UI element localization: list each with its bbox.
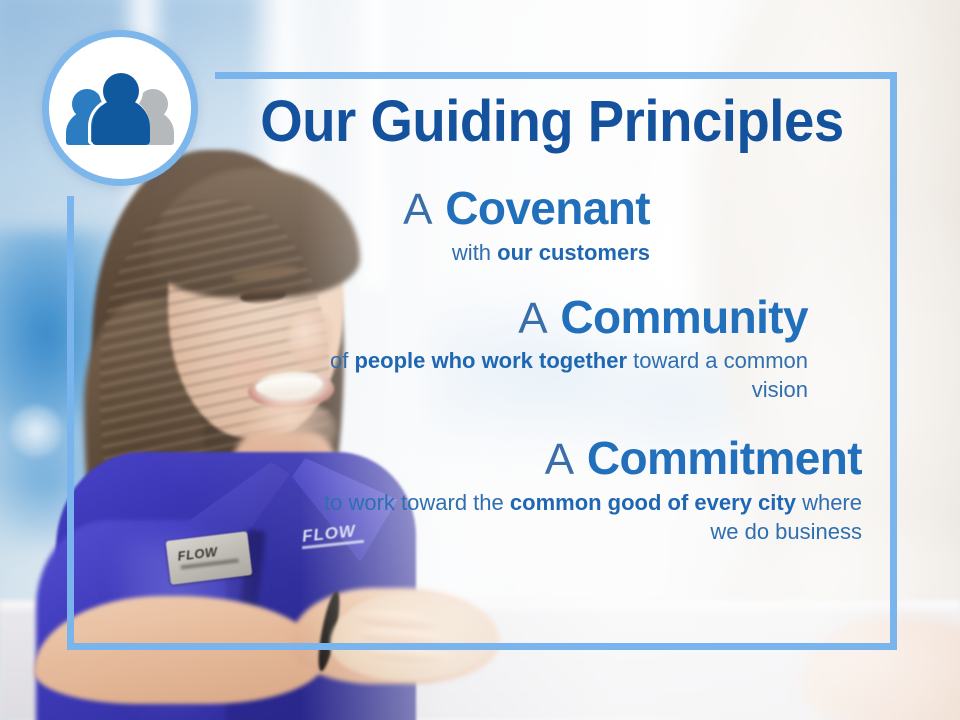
principle-commitment: A Commitment to work toward the common g… (300, 434, 880, 546)
principle-subtext-emphasis: our customers (497, 240, 650, 265)
principle-title: A Commitment (300, 434, 862, 484)
principle-article: A (545, 435, 574, 484)
principle-subtext-prefix: of (330, 348, 354, 373)
principle-keyword: Covenant (445, 182, 650, 234)
frame-left-edge (67, 196, 74, 650)
frame-bottom-edge (67, 643, 897, 650)
frame-right-edge (890, 72, 897, 650)
principle-subtext-prefix: to work toward the (324, 490, 510, 515)
principle-keyword: Commitment (587, 432, 862, 484)
principle-covenant: A Covenant with our customers (300, 184, 880, 267)
principle-subtext-suffix: toward a common vision (627, 348, 808, 402)
principle-subtext-emphasis: people who work together (354, 348, 627, 373)
principles-list: A Covenant with our customers A Communit… (300, 184, 880, 546)
principle-title: A Community (300, 293, 808, 343)
principle-subtext: of people who work together toward a com… (300, 346, 808, 404)
principle-keyword: Community (560, 291, 808, 343)
principle-subtext: with our customers (300, 238, 650, 267)
people-group-icon (68, 71, 172, 145)
principle-subtext-emphasis: common good of every city (510, 490, 796, 515)
principle-subtext-prefix: with (452, 240, 497, 265)
frame-top-edge (215, 72, 897, 79)
principle-article: A (403, 185, 432, 234)
people-badge (42, 30, 198, 186)
principle-subtext: to work toward the common good of every … (300, 488, 862, 546)
page-title: Our Guiding Principles (238, 92, 866, 151)
principle-article: A (518, 294, 547, 343)
person-icon-center-body (92, 99, 150, 145)
principle-community: A Community of people who work together … (300, 293, 880, 405)
principle-title: A Covenant (300, 184, 650, 234)
guiding-principles-graphic: FLOW FLOW (0, 0, 960, 720)
